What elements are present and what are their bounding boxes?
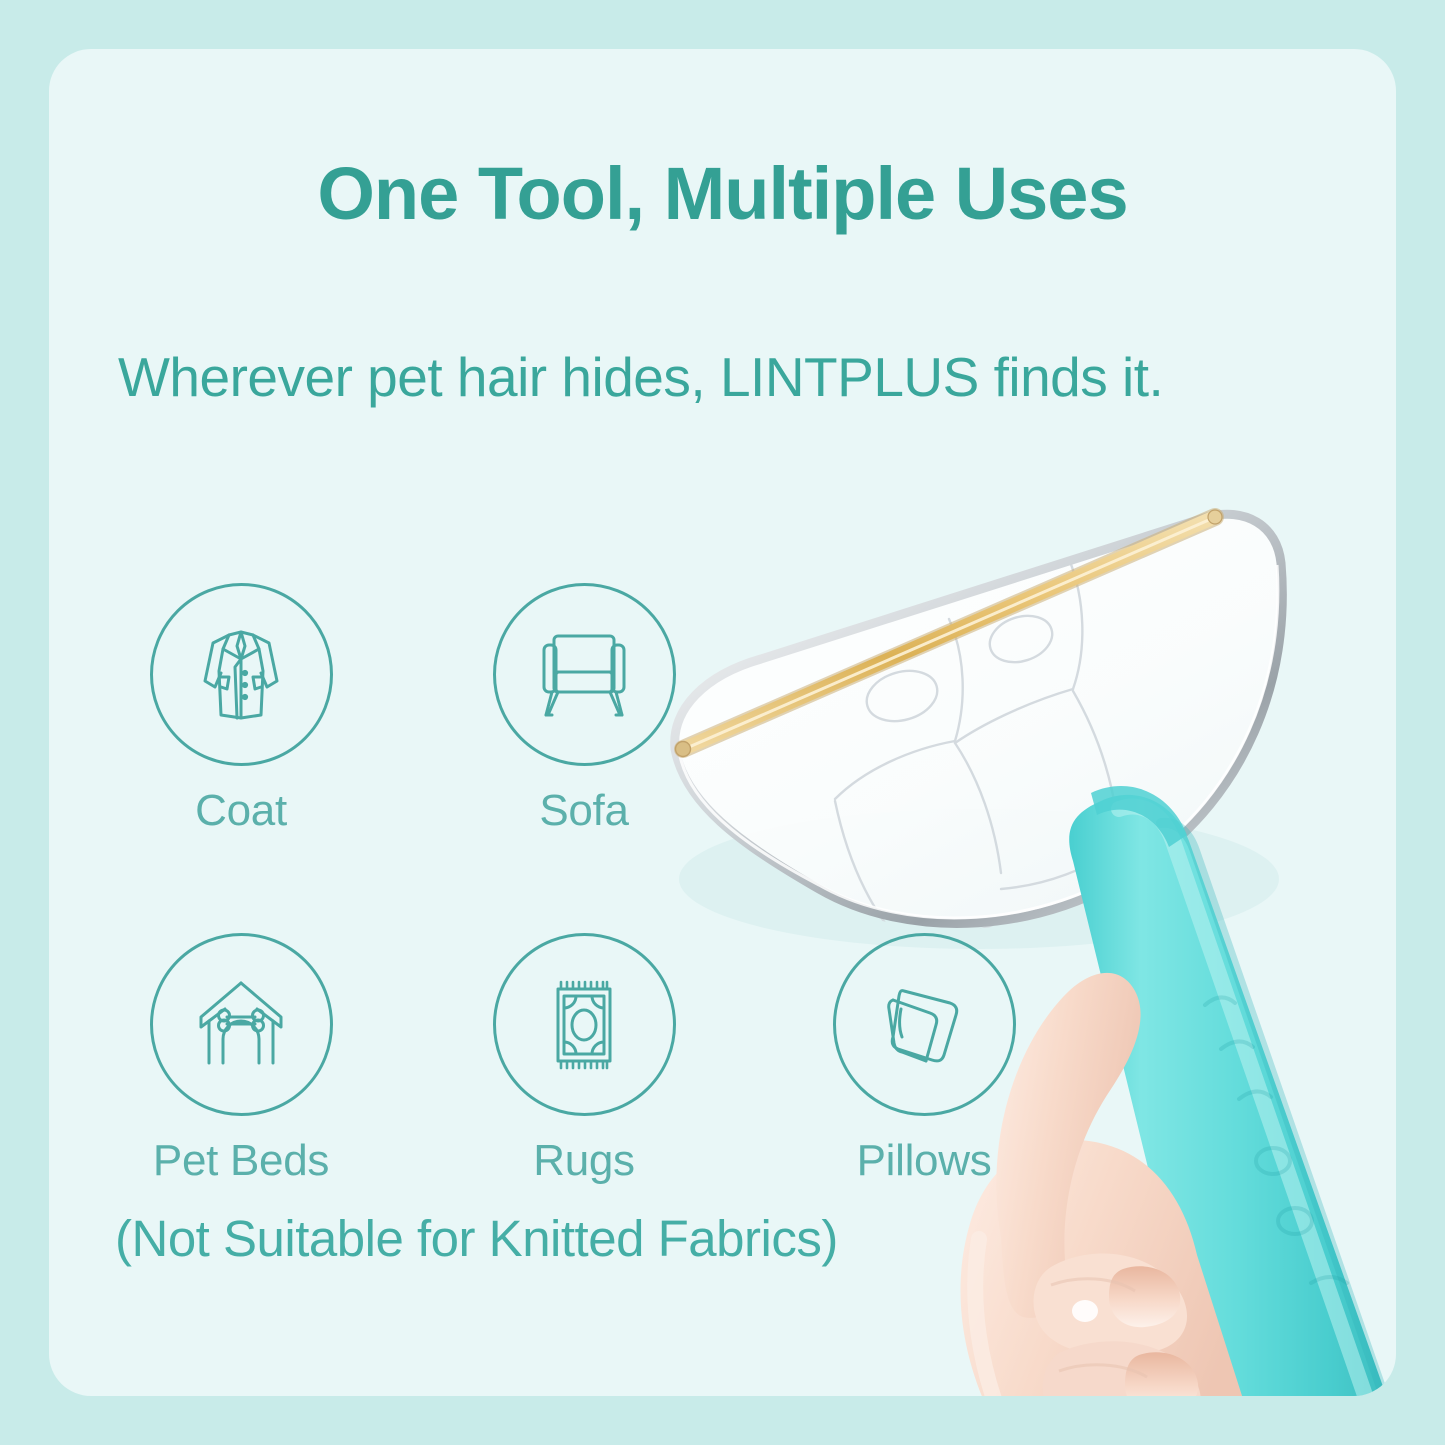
use-case-pet-beds: Pet Beds — [121, 933, 361, 1186]
armchair-icon — [528, 619, 640, 731]
infographic-root: One Tool, Multiple Uses Wherever pet hai… — [0, 0, 1445, 1445]
use-case-sofa: Sofa — [464, 583, 704, 836]
use-case-grid: Coat — [101, 561, 1101, 1201]
tool-handle — [1069, 786, 1395, 1396]
use-case-coat: Coat — [121, 583, 361, 836]
handle-embossing — [1205, 997, 1347, 1283]
doghouse-icon — [185, 969, 297, 1081]
use-case-label: Rugs — [464, 1136, 704, 1186]
rug-icon-circle — [493, 933, 676, 1116]
armchair-icon-circle — [493, 583, 676, 766]
content-card: One Tool, Multiple Uses Wherever pet hai… — [49, 49, 1396, 1396]
use-case-label: Coat — [121, 786, 361, 836]
pillows-icon-circle — [833, 933, 1016, 1116]
footnote: (Not Suitable for Knitted Fabrics) — [115, 1209, 838, 1268]
rug-icon — [528, 969, 640, 1081]
fingernails — [1072, 1266, 1207, 1396]
coat-icon-circle — [150, 583, 333, 766]
use-case-pillows: Pillows — [804, 933, 1044, 1186]
page-title: One Tool, Multiple Uses — [49, 155, 1396, 233]
use-case-rugs: Rugs — [464, 933, 704, 1186]
coat-icon — [185, 619, 297, 731]
doghouse-icon-circle — [150, 933, 333, 1116]
subtitle: Wherever pet hair hides, LINTPLUS finds … — [118, 342, 1238, 414]
use-case-label: Pillows — [804, 1136, 1044, 1186]
use-case-label: Pet Beds — [121, 1136, 361, 1186]
use-case-label: Sofa — [464, 786, 704, 836]
pillows-icon — [868, 969, 980, 1081]
